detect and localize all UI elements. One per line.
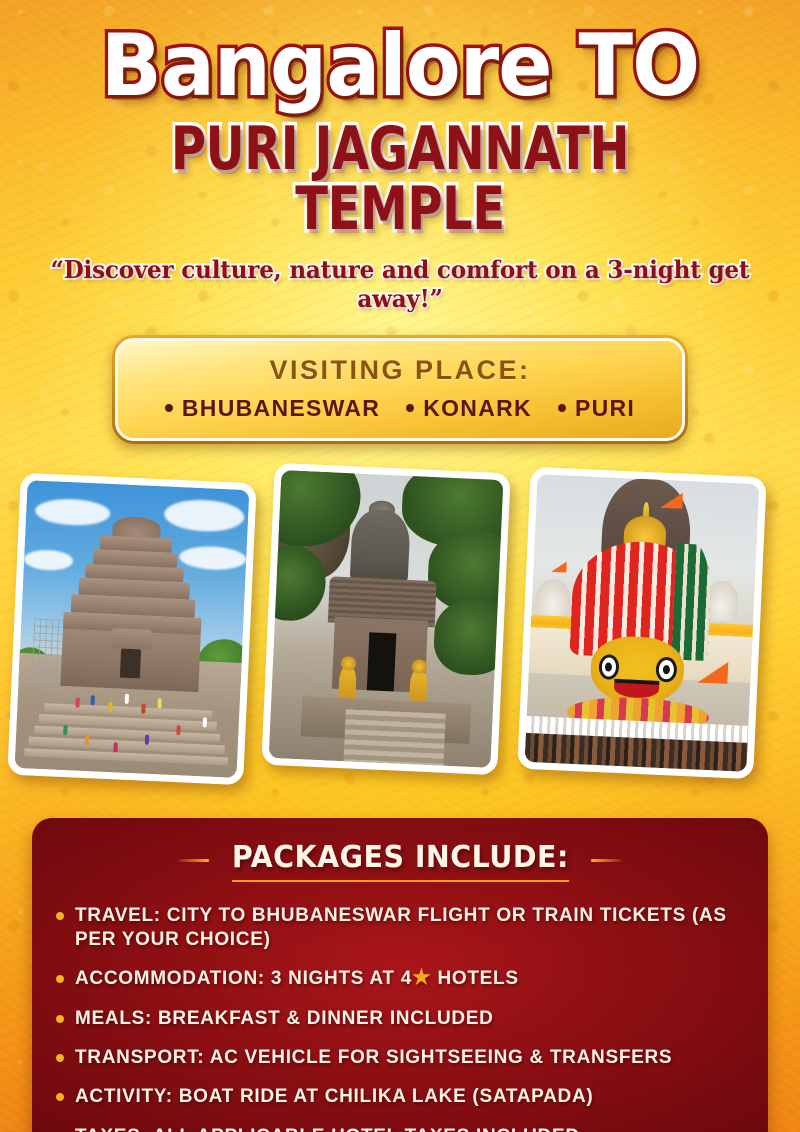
photo-frame: [15, 480, 250, 778]
package-item-text: ACCOMMODATION: 3 NIGHTS AT 4★ HOTELS: [75, 967, 519, 991]
visiting-place-box: VISITING PLACE: BHUBANESWAR KONARK PURI: [112, 335, 688, 444]
visiting-place-section: VISITING PLACE: BHUBANESWAR KONARK PURI: [0, 335, 800, 444]
visiting-place-label: BHUBANESWAR: [182, 395, 380, 422]
package-item-meals: MEALS: BREAKFAST & DINNER INCLUDED: [56, 1007, 744, 1031]
package-item-text: TAXES: ALL APPLICABLE HOTEL TAXES INCLUD…: [75, 1125, 580, 1132]
bullet-dot-icon: [56, 1054, 64, 1062]
photo-frame: [269, 470, 504, 768]
package-item-travel: TRAVEL: CITY TO BHUBANESWAR FLIGHT OR TR…: [56, 904, 744, 953]
poster-title-line-2: PURI JAGANNATH TEMPLE: [80, 119, 720, 239]
travel-poster: Bangalore TO PURI JAGANNATH TEMPLE “Disc…: [0, 0, 800, 1132]
bullet-dot-icon: [56, 975, 64, 983]
photo-gallery: [0, 466, 800, 796]
jagannath-face-icon: [590, 635, 686, 705]
star-icon: ★: [412, 966, 432, 989]
dash-right-icon: [591, 859, 621, 862]
visiting-place-label: KONARK: [423, 395, 532, 422]
poster-tagline: “Discover culture, nature and comfort on…: [16, 255, 784, 313]
bullet-dot-icon: [56, 1093, 64, 1101]
photo-puri-rath-yatra: [517, 467, 766, 779]
bullet-dot-icon: [56, 912, 64, 920]
visiting-place-label: PURI: [575, 395, 635, 422]
packages-panel: PACKAGES INCLUDE: TRAVEL: CITY TO BHUBAN…: [32, 818, 768, 1132]
poster-title-line-1: Bangalore TO: [28, 26, 772, 107]
headline-block: Bangalore TO PURI JAGANNATH TEMPLE “Disc…: [0, 0, 800, 313]
visiting-place-item-2: PURI: [551, 395, 642, 422]
package-item-text: MEALS: BREAKFAST & DINNER INCLUDED: [75, 1007, 494, 1031]
puri-rath-yatra-image: [525, 474, 760, 772]
bullet-dot-icon: [558, 404, 566, 412]
bhubaneswar-temple-image: [269, 470, 504, 768]
visiting-place-heading: VISITING PLACE:: [128, 355, 672, 386]
package-item-accommodation: ACCOMMODATION: 3 NIGHTS AT 4★ HOTELS: [56, 967, 744, 991]
photo-bhubaneswar-temple: [261, 463, 510, 775]
package-item-text: TRAVEL: CITY TO BHUBANESWAR FLIGHT OR TR…: [75, 904, 744, 953]
photo-konark-sun-temple: [7, 473, 256, 785]
package-item-taxes: TAXES: ALL APPLICABLE HOTEL TAXES INCLUD…: [56, 1125, 744, 1132]
konark-sun-temple-image: [15, 480, 250, 778]
bullet-dot-icon: [56, 1015, 64, 1023]
packages-list: TRAVEL: CITY TO BHUBANESWAR FLIGHT OR TR…: [56, 904, 744, 1132]
packages-heading-row: PACKAGES INCLUDE:: [56, 840, 744, 882]
visiting-place-list: BHUBANESWAR KONARK PURI: [128, 395, 672, 422]
dash-left-icon: [179, 859, 209, 862]
visiting-place-item-1: KONARK: [399, 395, 539, 422]
package-item-text: ACTIVITY: BOAT RIDE AT CHILIKA LAKE (SAT…: [75, 1085, 593, 1109]
visiting-place-inner: VISITING PLACE: BHUBANESWAR KONARK PURI: [115, 338, 685, 441]
visiting-place-item-0: BHUBANESWAR: [158, 395, 387, 422]
package-item-transport: TRANSPORT: AC VEHICLE FOR SIGHTSEEING & …: [56, 1046, 744, 1070]
bullet-dot-icon: [406, 404, 414, 412]
package-item-activity: ACTIVITY: BOAT RIDE AT CHILIKA LAKE (SAT…: [56, 1085, 744, 1109]
package-item-text: TRANSPORT: AC VEHICLE FOR SIGHTSEEING & …: [75, 1046, 672, 1070]
packages-heading: PACKAGES INCLUDE:: [232, 840, 569, 882]
bullet-dot-icon: [165, 404, 173, 412]
photo-frame: [525, 474, 760, 772]
